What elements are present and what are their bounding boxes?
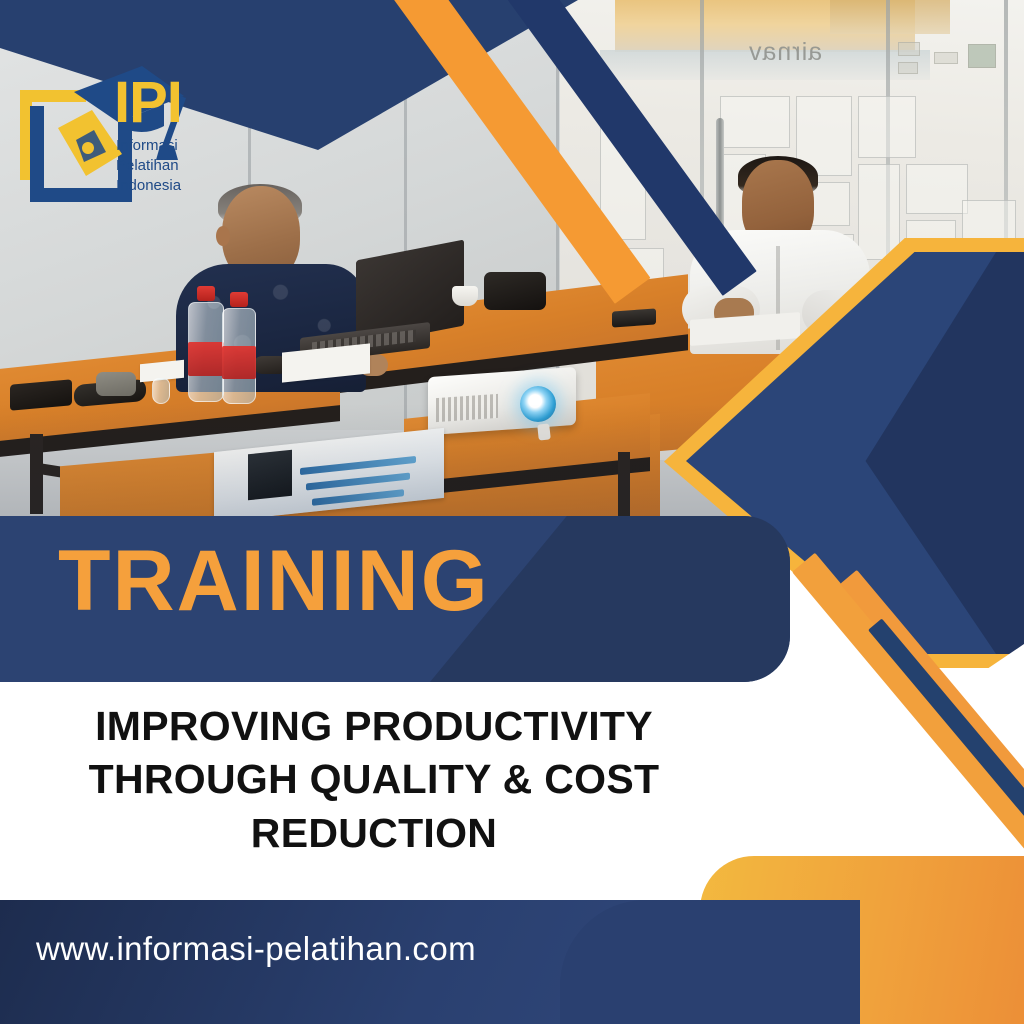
water-bottle xyxy=(222,292,256,404)
bottle-body xyxy=(152,378,170,404)
coffee-cup xyxy=(452,286,478,306)
footer-curve-accent xyxy=(560,900,860,1024)
ceiling-light-warm xyxy=(830,0,950,34)
bottle-label xyxy=(222,346,256,380)
brochure-dark-panel xyxy=(248,450,292,501)
glass-tile xyxy=(720,96,790,148)
bottle-label xyxy=(188,342,224,377)
subtitle-line-3: REDUCTION xyxy=(36,807,712,860)
sign-accent-box xyxy=(934,52,958,64)
website-url[interactable]: www.informasi-pelatihan.com xyxy=(36,930,476,968)
projector-lens xyxy=(520,386,556,422)
training-title: TRAINING xyxy=(58,538,490,624)
course-subtitle: IMPROVING PRODUCTIVITY THROUGH QUALITY &… xyxy=(36,700,712,860)
glass-sign-text: airnav xyxy=(748,38,822,67)
logo-acronym: IPI xyxy=(114,74,182,132)
training-poster: airnav xyxy=(0,0,1024,1024)
logo-line-1: Informasi xyxy=(116,136,181,156)
ear xyxy=(216,226,230,246)
hand-sanitizer xyxy=(152,362,170,404)
logo-line-3: Indonesia xyxy=(116,176,181,196)
wallet xyxy=(10,379,72,410)
ipi-logo[interactable]: IPI Informasi Pelatihan Indonesia xyxy=(14,62,230,202)
subtitle-line-1: IMPROVING PRODUCTIVITY xyxy=(36,700,712,753)
mobile-phone xyxy=(612,308,656,327)
projector-foot xyxy=(537,423,551,440)
glass-tile xyxy=(858,96,916,158)
sign-accent-box xyxy=(898,62,918,74)
subtitle-line-2: THROUGH QUALITY & COST xyxy=(36,753,712,806)
bottle-cap xyxy=(230,292,248,307)
glass-tile xyxy=(906,164,968,214)
logo-line-2: Pelatihan xyxy=(116,156,181,176)
grey-case xyxy=(96,372,136,396)
projector-vent xyxy=(436,394,498,422)
bottle-cap xyxy=(197,286,216,301)
sign-accent-box xyxy=(968,44,996,68)
water-bottle xyxy=(188,286,224,402)
sign-accent-box xyxy=(898,42,920,56)
laptop-bag xyxy=(484,272,546,310)
